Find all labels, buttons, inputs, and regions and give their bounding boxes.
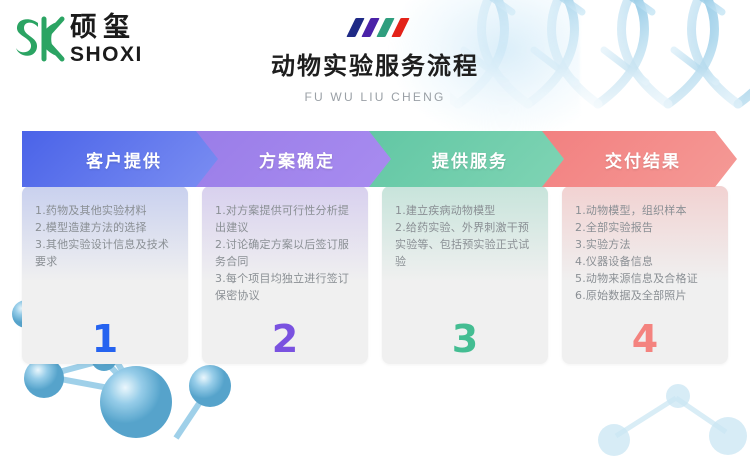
- card-item-list: 1.对方案提供可行性分析提出建议2.讨论确定方案以后签订服务合同3.每个项目均独…: [215, 202, 355, 304]
- list-item: 6.原始数据及全部照片: [575, 287, 715, 304]
- list-item: 3.其他实验设计信息及技术要求: [35, 236, 175, 270]
- process-banner-row: 客户提供方案确定提供服务交付结果: [22, 131, 728, 187]
- process-banner-1[interactable]: 客户提供: [22, 131, 218, 187]
- process-banner-2[interactable]: 方案确定: [195, 131, 391, 187]
- process-banner-label: 方案确定: [259, 147, 335, 172]
- list-item: 2.全部实验报告: [575, 219, 715, 236]
- list-item: 1.动物模型，组织样本: [575, 202, 715, 219]
- process-card-row: 1.药物及其他实验材料2.模型造建方法的选择3.其他实验设计信息及技术要求11.…: [22, 186, 728, 366]
- list-item: 2.讨论确定方案以后签订服务合同: [215, 236, 355, 270]
- list-item: 2.模型造建方法的选择: [35, 219, 175, 236]
- process-banner-label: 客户提供: [86, 147, 162, 172]
- process-card-1[interactable]: 1.药物及其他实验材料2.模型造建方法的选择3.其他实验设计信息及技术要求1: [22, 186, 188, 364]
- accent-slash-4: [391, 18, 409, 37]
- list-item: 1.对方案提供可行性分析提出建议: [215, 202, 355, 236]
- process-banner-3[interactable]: 提供服务: [368, 131, 564, 187]
- accent-slashes: [345, 18, 405, 37]
- process-card-3[interactable]: 1.建立疾病动物模型2.给药实验、外界刺激干预实验等、包括预实验正式试验3: [382, 186, 548, 364]
- card-step-number: 2: [215, 320, 355, 358]
- page-subtitle: FU WU LIU CHENG: [305, 90, 446, 104]
- list-item: 2.给药实验、外界刺激干预实验等、包括预实验正式试验: [395, 219, 535, 270]
- card-item-list: 1.药物及其他实验材料2.模型造建方法的选择3.其他实验设计信息及技术要求: [35, 202, 175, 270]
- list-item: 3.每个项目均独立进行签订保密协议: [215, 270, 355, 304]
- list-item: 3.实验方法: [575, 236, 715, 253]
- page-header: 动物实验服务流程 FU WU LIU CHENG: [0, 18, 750, 104]
- process-card-4[interactable]: 1.动物模型，组织样本2.全部实验报告3.实验方法4.仪器设备信息5.动物来源信…: [562, 186, 728, 364]
- process-banner-4[interactable]: 交付结果: [541, 131, 737, 187]
- card-item-list: 1.建立疾病动物模型2.给药实验、外界刺激干预实验等、包括预实验正式试验: [395, 202, 535, 270]
- list-item: 1.药物及其他实验材料: [35, 202, 175, 219]
- process-banner-label: 交付结果: [605, 147, 681, 172]
- list-item: 5.动物来源信息及合格证: [575, 270, 715, 287]
- list-item: 1.建立疾病动物模型: [395, 202, 535, 219]
- process-card-2[interactable]: 1.对方案提供可行性分析提出建议2.讨论确定方案以后签订服务合同3.每个项目均独…: [202, 186, 368, 364]
- card-step-number: 4: [575, 320, 715, 358]
- card-item-list: 1.动物模型，组织样本2.全部实验报告3.实验方法4.仪器设备信息5.动物来源信…: [575, 202, 715, 304]
- list-item: 4.仪器设备信息: [575, 253, 715, 270]
- card-step-number: 1: [35, 320, 175, 358]
- page-title: 动物实验服务流程: [271, 46, 479, 81]
- process-banner-label: 提供服务: [432, 147, 508, 172]
- card-step-number: 3: [395, 320, 535, 358]
